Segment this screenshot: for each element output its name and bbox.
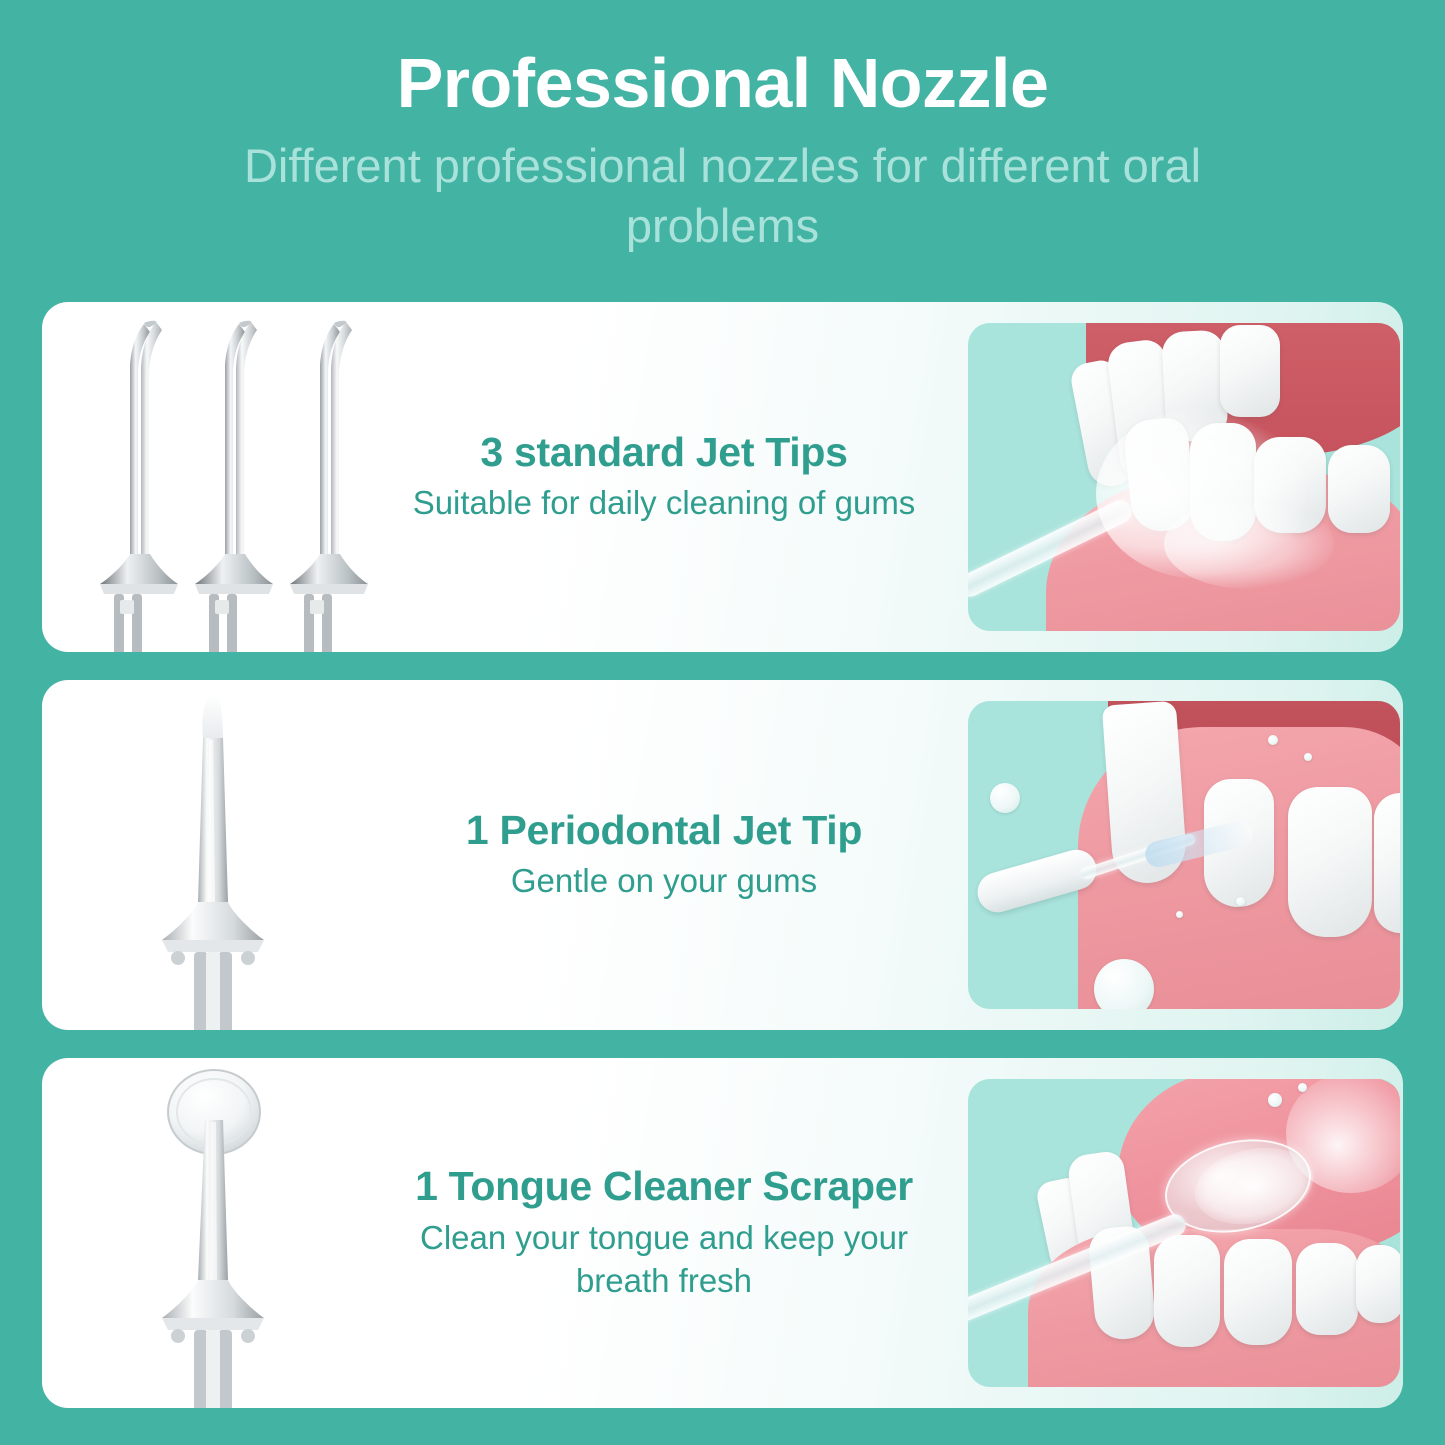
feature-card-periodontal-jet-tip[interactable]: 1 Periodontal Jet Tip Gentle on your gum… [42,680,1403,1030]
feature-card-tongue-cleaner-scraper[interactable]: 1 Tongue Cleaner Scraper Clean your tong… [42,1058,1403,1408]
product-illustration-periodontal-jet-tip [42,680,412,1030]
tooth [1220,325,1280,417]
water-droplet [990,783,1020,813]
tooth [1154,1235,1220,1347]
card-text-standard-jet-tips: 3 standard Jet Tips Suitable for daily c… [412,429,956,525]
standard-jet-tip-nozzle-icon [42,302,412,652]
tooth [1328,445,1390,533]
tooth [1356,1245,1400,1323]
water-droplet [1304,753,1312,761]
card-text-periodontal-jet-tip: 1 Periodontal Jet Tip Gentle on your gum… [412,807,956,903]
card-photo-column [956,302,1403,652]
card-heading: 3 standard Jet Tips [412,429,916,477]
card-heading: 1 Periodontal Jet Tip [412,807,916,855]
card-photo-column [956,680,1403,1030]
photo-gums-cleaning [968,323,1400,631]
feature-card-standard-jet-tips[interactable]: 3 standard Jet Tips Suitable for daily c… [42,302,1403,652]
card-heading: 1 Tongue Cleaner Scraper [412,1163,916,1211]
water-droplet [1236,897,1245,906]
header: Professional Nozzle Different profession… [0,0,1445,255]
card-subtext: Suitable for daily cleaning of gums [412,482,916,525]
card-text-tongue-cleaner-scraper: 1 Tongue Cleaner Scraper Clean your tong… [412,1163,956,1302]
product-illustration-standard-jet-tips [42,302,412,652]
card-subtext: Clean your tongue and keep your breath f… [412,1217,916,1303]
page-title: Professional Nozzle [0,44,1445,122]
photo-periodontal-cleaning [968,701,1400,1009]
water-droplet [1176,911,1183,918]
photo-tongue-cleaning [968,1079,1400,1387]
tongue-cleaner-scraper-nozzle-icon [42,1058,412,1408]
feature-card-list: 3 standard Jet Tips Suitable for daily c… [42,302,1403,1408]
periodontal-jet-tip-nozzle-icon [42,680,412,1030]
water-spray [1164,499,1334,589]
tooth [1224,1239,1292,1345]
water-droplet [1268,1093,1282,1107]
tooth [1296,1243,1358,1335]
water-droplet [1298,1083,1307,1092]
tooth [1288,787,1372,937]
card-subtext: Gentle on your gums [412,860,916,903]
tooth [1374,793,1400,933]
product-illustration-tongue-cleaner-scraper [42,1058,412,1408]
page-subtitle: Different professional nozzles for diffe… [0,136,1445,254]
water-droplet [1268,735,1278,745]
card-photo-column [956,1058,1403,1408]
